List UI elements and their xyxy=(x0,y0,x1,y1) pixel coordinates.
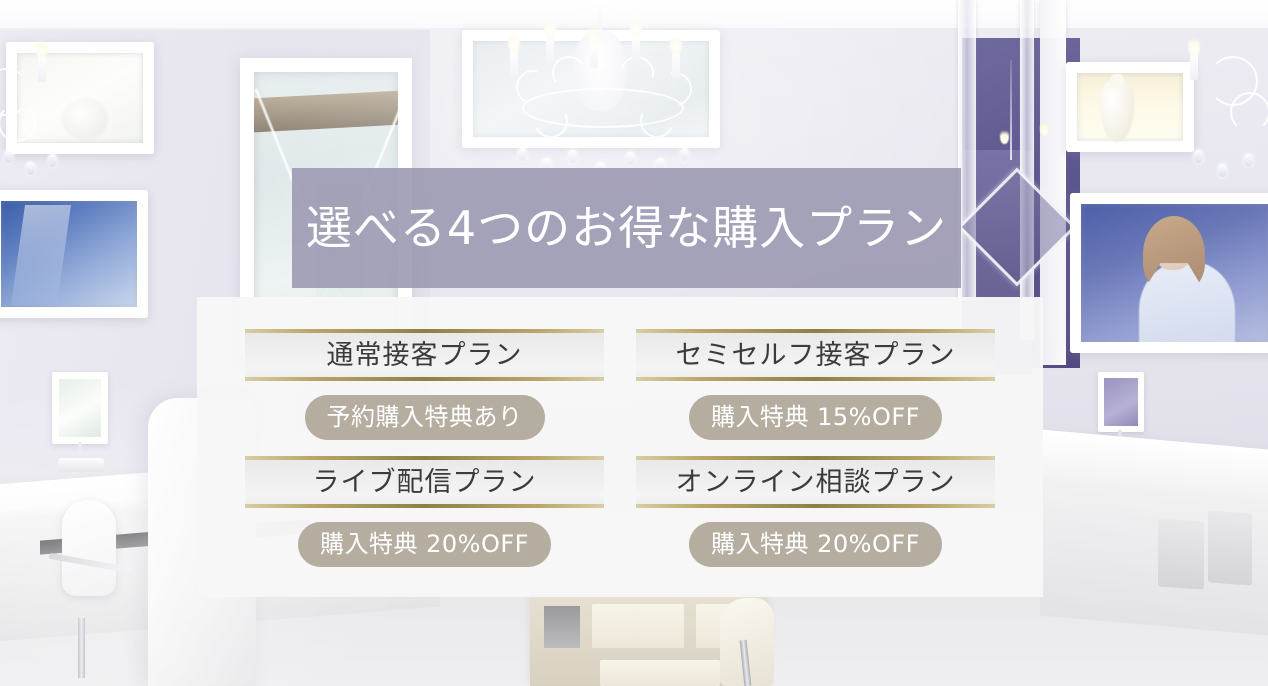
mirror-glass xyxy=(59,379,101,437)
plan-title-bar: オンライン相談プラン xyxy=(636,456,995,508)
vanity-standing-mirror xyxy=(52,372,108,444)
wall-sconce-right-icon xyxy=(1178,30,1268,220)
candle-flame-icon xyxy=(630,16,642,36)
chandelier-candle xyxy=(510,50,518,76)
crystal-drop xyxy=(680,148,689,161)
plan-benefit-badge: 予約購入特典あり xyxy=(305,395,545,440)
candle-flame-icon xyxy=(508,32,520,52)
crystal-drop xyxy=(518,148,527,161)
sconce-candle xyxy=(38,56,46,82)
crystal-drop xyxy=(4,150,13,163)
doorway-valance xyxy=(254,89,398,132)
shelf-cushion xyxy=(592,604,684,648)
candle-flame-icon xyxy=(544,18,556,38)
candle-flame-icon xyxy=(670,34,682,54)
crystal-drop xyxy=(48,154,57,167)
mirror-column-right xyxy=(1040,0,1066,365)
plan-title: セミセルフ接客プラン xyxy=(676,342,956,369)
plan-benefit-badge: 購入特典 20%OFF xyxy=(689,522,942,567)
wall-sconce-left-icon xyxy=(0,28,142,218)
chandelier-candle xyxy=(632,34,640,60)
storage-bin xyxy=(1208,510,1252,585)
plan-title: ライブ配信プラン xyxy=(313,469,537,496)
storage-bin xyxy=(1158,518,1204,589)
plan-title-bar: 通常接客プラン xyxy=(245,329,604,381)
plan-title-bar: セミセルフ接客プラン xyxy=(636,329,995,381)
sconce-scroll xyxy=(0,104,36,142)
sconce-flame-icon xyxy=(1040,120,1049,136)
promo-screen: 選べる4つのお得な購入プラン 通常接客プラン 予約購入特典あり セミセルフ接客プ… xyxy=(0,0,1268,686)
plan-title-bar: ライブ配信プラン xyxy=(245,456,604,508)
crystal-drop xyxy=(26,162,35,175)
crystal-drop xyxy=(626,152,635,165)
plan-card-semi-self[interactable]: セミセルフ接客プラン 購入特典 15%OFF xyxy=(636,329,995,442)
mirror-column-mid xyxy=(1020,0,1034,340)
sconce-scroll xyxy=(1230,92,1268,132)
plans-grid: 通常接客プラン 予約購入特典あり セミセルフ接客プラン 購入特典 15%OFF … xyxy=(245,329,995,569)
salon-chair-back xyxy=(62,500,116,596)
vase-neck xyxy=(1110,74,1124,88)
salon-chair-post xyxy=(78,618,85,678)
sconce-candle xyxy=(1190,54,1198,80)
chandelier-candle xyxy=(546,36,554,62)
plan-card-online-consultation[interactable]: オンライン相談プラン 購入特典 20%OFF xyxy=(636,456,995,569)
plan-card-live-streaming[interactable]: ライブ配信プラン 購入特典 20%OFF xyxy=(245,456,604,569)
plan-benefit-badge: 購入特典 20%OFF xyxy=(298,522,551,567)
candle-flame-icon xyxy=(36,38,48,58)
mirror-base xyxy=(58,458,104,472)
page-title: 選べる4つのお得な購入プラン xyxy=(306,205,947,251)
headline-banner: 選べる4つのお得な購入プラン xyxy=(292,168,961,288)
mirror-glass xyxy=(1104,378,1138,426)
frame-glass xyxy=(1081,204,1268,342)
plan-title: 通常接客プラン xyxy=(327,342,523,369)
plan-benefit-badge: 購入特典 15%OFF xyxy=(689,395,942,440)
diamond-mirror-stem xyxy=(1010,60,1012,160)
plans-panel: 通常接客プラン 予約購入特典あり セミセルフ接客プラン 購入特典 15%OFF … xyxy=(197,297,1043,597)
shelf-cushion xyxy=(600,660,720,686)
plan-card-standard[interactable]: 通常接客プラン 予約購入特典あり xyxy=(245,329,604,442)
plan-title: オンライン相談プラン xyxy=(676,469,956,496)
chandelier-candle xyxy=(590,42,598,68)
crystal-drop xyxy=(1218,164,1227,177)
candle-flame-icon xyxy=(1188,36,1200,56)
crystal-drop xyxy=(1244,154,1253,167)
crystal-drop xyxy=(568,150,577,163)
crystal-drop xyxy=(1194,150,1203,163)
chandelier-candle xyxy=(672,52,680,78)
candle-flame-icon xyxy=(588,24,600,44)
sconce-flame-icon xyxy=(1000,128,1009,144)
counter-standing-mirror xyxy=(1098,372,1144,432)
shelf-dark-cell xyxy=(544,606,580,648)
